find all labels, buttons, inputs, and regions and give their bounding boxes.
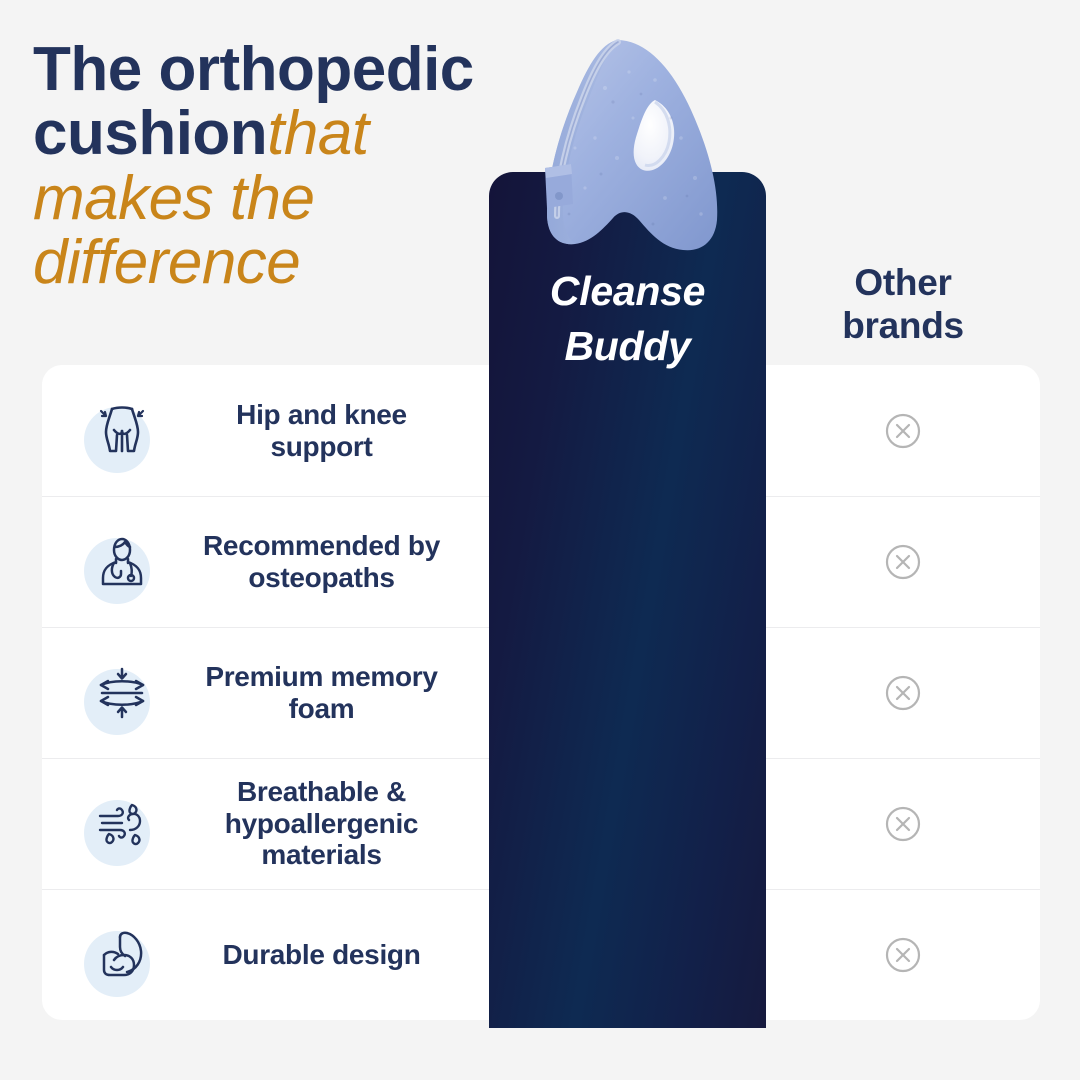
x-circle-icon [881, 802, 925, 846]
hip-body-icon [76, 385, 168, 477]
feature-label: Breathable & hypoallergenic materials [168, 776, 489, 872]
feature-label-line-1: Breathable & [237, 776, 406, 807]
other-brands-column-title: Other brands [766, 262, 1040, 348]
feature-cell: Durable design [42, 909, 489, 1001]
wind-leaf-breathable-icon [76, 778, 168, 870]
feature-label-line-1: Durable design [222, 939, 420, 970]
feature-label-line-3: materials [261, 839, 381, 870]
headline-line-2-gold: that [267, 99, 368, 168]
x-circle-icon [881, 409, 925, 453]
feature-label-line-1: Hip and knee [236, 399, 407, 430]
feature-label-line-2: support [270, 431, 372, 462]
feature-label: Premium memory foam [168, 661, 489, 725]
feature-cell: Hip and knee support [42, 385, 489, 477]
brand-title-line-1: Cleanse [489, 264, 766, 319]
x-circle-icon [881, 671, 925, 715]
other-mark-cell [766, 933, 1040, 977]
feature-cell: Recommended by osteopaths [42, 516, 489, 608]
headline-line-2-navy: cushion [33, 99, 267, 168]
memory-foam-expand-icon [76, 647, 168, 739]
feature-label-line-2: hypoallergenic [225, 808, 418, 839]
feature-label-line-2: osteopaths [248, 562, 394, 593]
feature-label: Hip and knee support [168, 399, 489, 463]
headline-line-1: The orthopedic [33, 38, 573, 102]
product-photo [505, 28, 750, 263]
brand-highlight-panel: Cleanse Buddy [489, 172, 766, 1028]
feature-cell: Premium memory foam [42, 647, 489, 739]
feature-label: Recommended by osteopaths [168, 530, 489, 594]
other-mark-cell [766, 802, 1040, 846]
x-circle-icon [881, 933, 925, 977]
doctor-stethoscope-icon [76, 516, 168, 608]
brand-title-line-2: Buddy [489, 319, 766, 374]
other-mark-cell [766, 409, 1040, 453]
brand-column-title: Cleanse Buddy [489, 264, 766, 373]
other-title-line-2: brands [766, 305, 1040, 348]
feature-cell: Breathable & hypoallergenic materials [42, 776, 489, 872]
x-circle-icon [881, 540, 925, 584]
feature-label-line-1: Recommended by [203, 530, 440, 561]
feature-label-line-1: Premium memory [205, 661, 437, 692]
feature-label-line-2: foam [289, 693, 355, 724]
other-title-line-1: Other [766, 262, 1040, 305]
other-mark-cell [766, 671, 1040, 715]
feature-label: Durable design [168, 939, 489, 971]
headline-line-2: cushionthat [33, 102, 573, 166]
flexed-arm-durable-icon [76, 909, 168, 1001]
other-mark-cell [766, 540, 1040, 584]
